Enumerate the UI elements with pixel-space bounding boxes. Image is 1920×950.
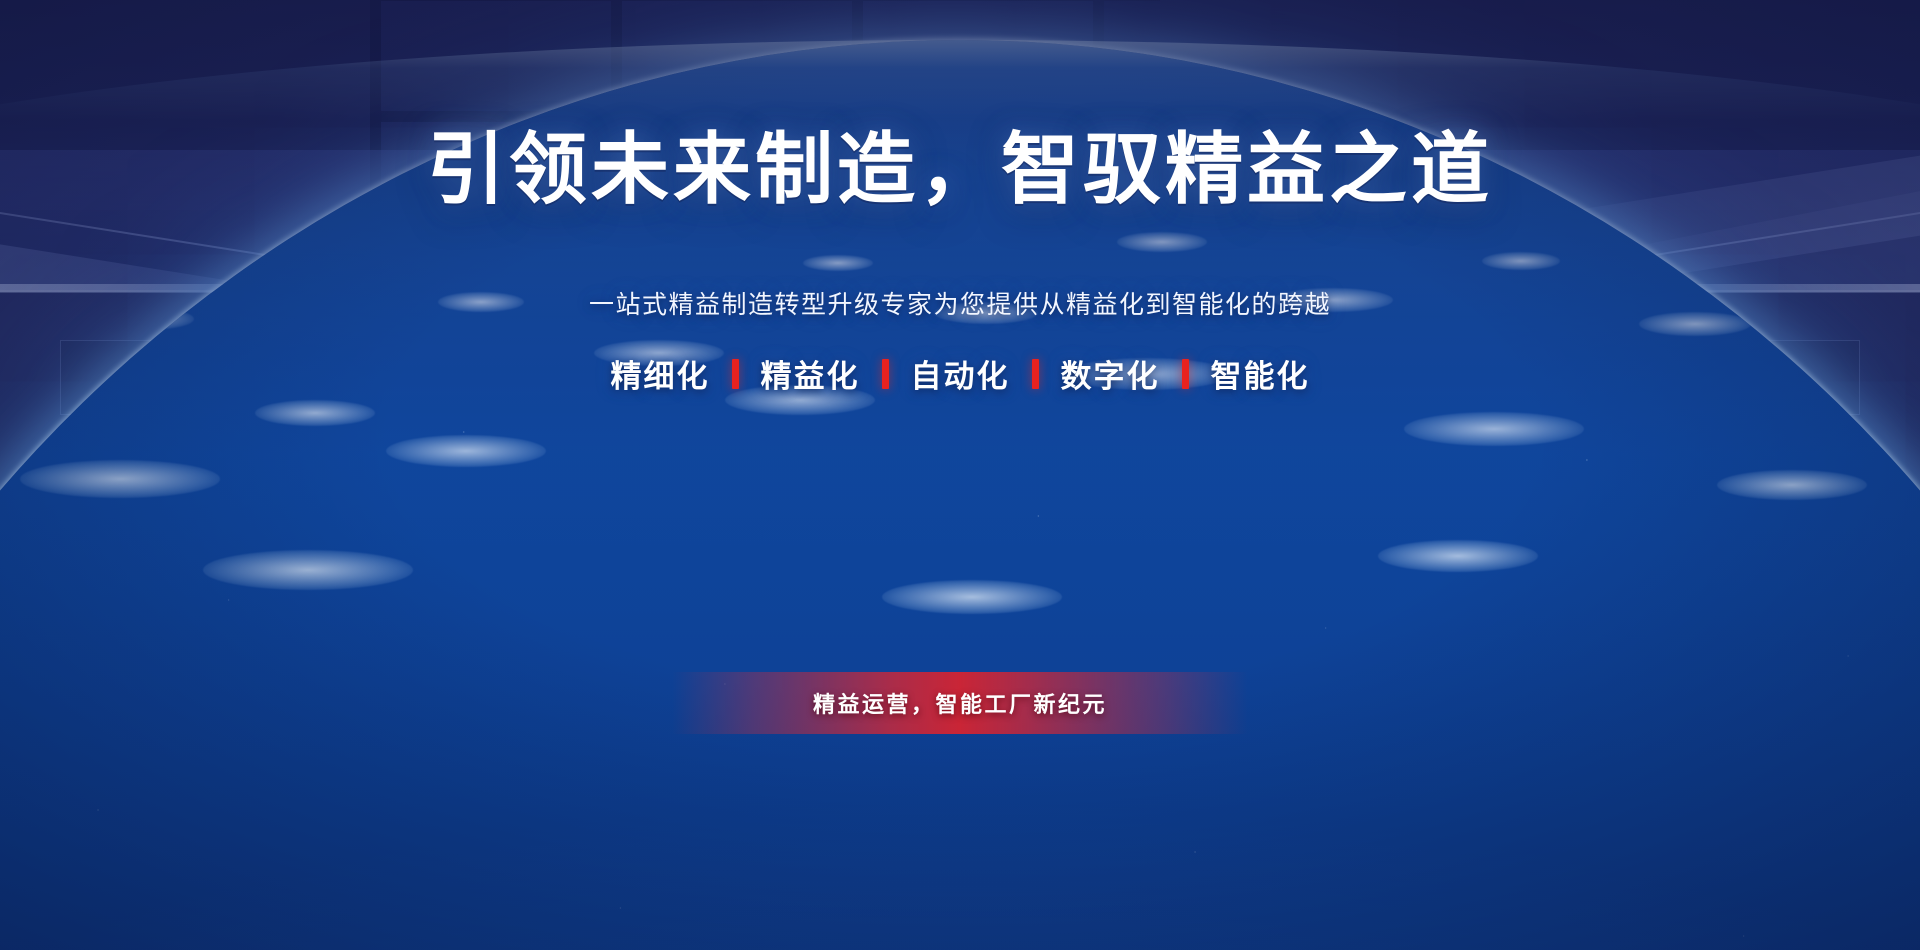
keyword-item: 精益化 [739, 351, 882, 396]
tagline-banner: 精益运营，智能工厂新纪元 [672, 672, 1248, 734]
keyword-separator-icon [882, 359, 889, 389]
keyword-item: 自动化 [889, 351, 1032, 396]
tagline-text: 精益运营，智能工厂新纪元 [813, 687, 1107, 719]
keyword-item: 智能化 [1189, 351, 1332, 396]
keyword-item: 数字化 [1039, 351, 1182, 396]
keyword-list: 精细化 精益化 自动化 数字化 智能化 [589, 351, 1332, 396]
keyword-separator-icon [1032, 359, 1039, 389]
banner-subtitle: 一站式精益制造转型升级专家为您提供从精益化到智能化的跨越 [589, 285, 1331, 321]
page-title: 引领未来制造，智驭精益之道 [427, 126, 1493, 213]
keyword-separator-icon [1182, 359, 1189, 389]
hero-banner: 技能道场 SKILL DOJO 质量反省 QUALITY REFLECTION [0, 0, 1920, 950]
keyword-separator-icon [732, 359, 739, 389]
keyword-item: 精细化 [589, 351, 732, 396]
